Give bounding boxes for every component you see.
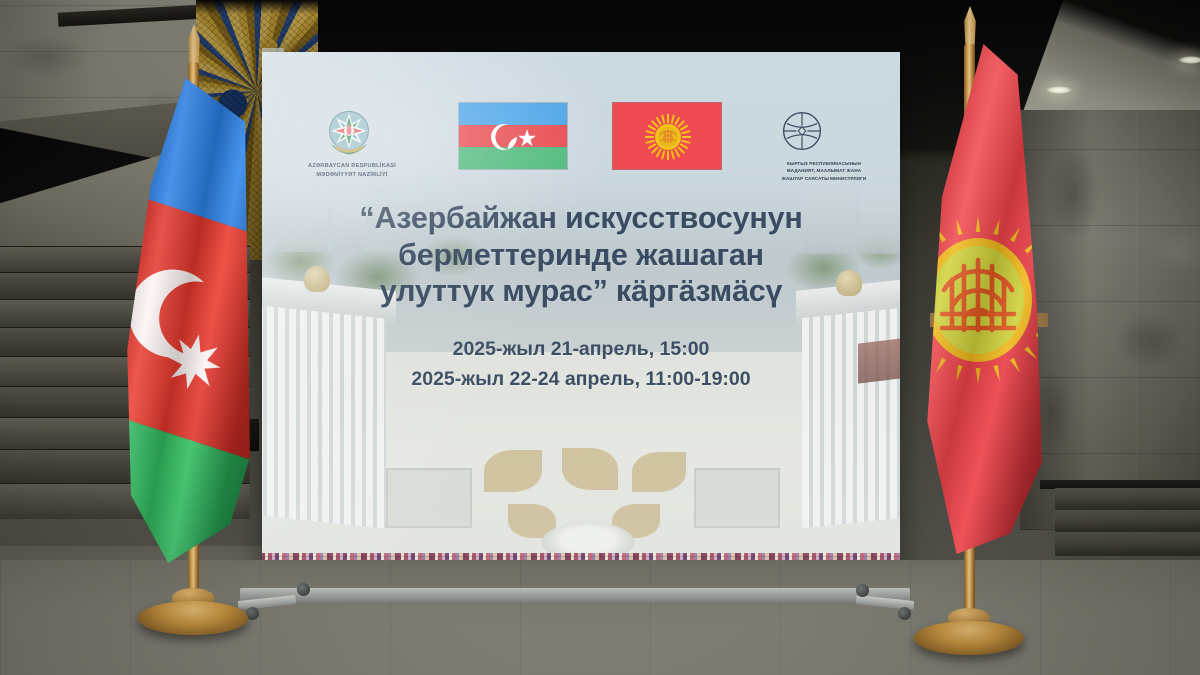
kyrgyz-ministry-line1: КЫРГЫЗ РЕСПУБЛИКАСЫНЫН [760, 160, 888, 167]
headline-line-2: берметтеринде жашаган [290, 237, 872, 274]
azerbaijan-ministry-emblem-icon [322, 106, 376, 160]
event-photo-scene: AZƏRBAYCAN RESPUBLİKASI MƏDƏNİYYƏT NAZİR… [0, 0, 1200, 675]
photo-plaza-motif [632, 452, 686, 492]
banner-dates: 2025-жыл 21-апрель, 15:00 2025-жыл 22-24… [290, 335, 872, 394]
ceiling-spotlight-icon [1178, 56, 1200, 64]
banner-logos-row: AZƏRBAYCAN RESPUBLİKASI MƏDƏNİYYƏT NAZİR… [262, 114, 900, 192]
ceiling-spotlight-icon [1046, 86, 1072, 94]
kyrgyzstan-flag-graphic [612, 102, 722, 170]
pole-base-right [914, 621, 1024, 655]
kyrgyz-ministry-line3: ЖАШТАР САЯСАТЫ МИНИСТРЛИГИ [760, 175, 888, 182]
azerbaijan-ministry-line1: AZƏRBAYCAN RESPUBLİKASI [282, 162, 422, 171]
headline-line-3: улуттук мурас” кӓргӓзмӓсү [290, 273, 872, 310]
azerbaijan-flag-graphic [458, 102, 568, 170]
photo-plaza-motif [562, 448, 618, 490]
date-line-2: 2025-жыл 22-24 апрель, 11:00-19:00 [290, 365, 872, 395]
banner-stand-wheel [856, 584, 869, 597]
mosaic-shadow [196, 0, 318, 14]
photo-plaza-motif [484, 450, 542, 492]
kyrgyz-ministry-line2: МАДАНИЯТ, МААЛЫМАТ ЖАНА [760, 167, 888, 174]
banner-stand-wheel [297, 583, 310, 596]
kyrgyz-ministry-label: КЫРГЫЗ РЕСПУБЛИКАСЫНЫН МАДАНИЯТ, МААЛЫМА… [760, 160, 888, 182]
banner-headline: “Азербайжан искусствосунун берметтеринде… [290, 200, 872, 310]
photo-planter [386, 468, 472, 528]
azerbaijan-ministry-line2: MƏDƏNİYYƏT NAZİRLİYİ [282, 171, 422, 180]
kyrgyz-ministry-emblem-icon [775, 104, 829, 158]
pole-base-left [138, 601, 248, 635]
banner-stand-wheel [898, 607, 911, 620]
event-banner: AZƏRBAYCAN RESPUBLİKASI MƏDƏNİYYƏT NAZİR… [262, 52, 900, 597]
date-line-1: 2025-жыл 21-апрель, 15:00 [290, 335, 872, 365]
azerbaijan-ministry-label: AZƏRBAYCAN RESPUBLİKASI MƏDƏNİYYƏT NAZİR… [282, 162, 422, 179]
photo-planter [694, 468, 780, 528]
banner-stand-frame [240, 588, 910, 602]
headline-line-1: “Азербайжан искусствосунун [290, 200, 872, 237]
